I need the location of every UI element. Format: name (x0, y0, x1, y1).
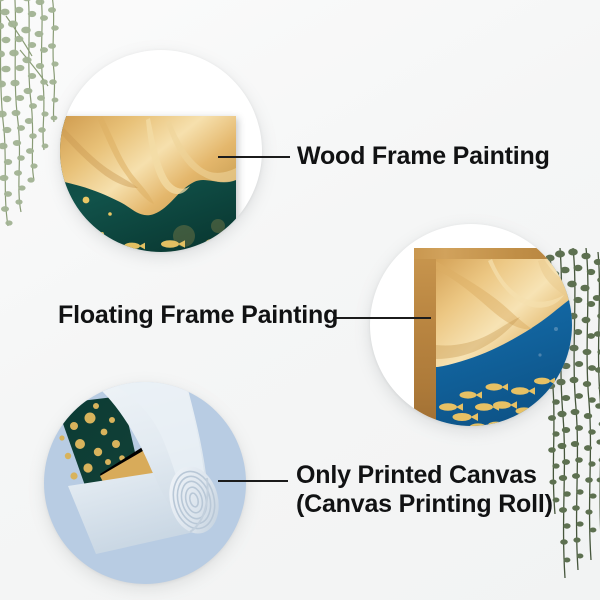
canvas-roll-illustration (44, 382, 246, 584)
label-floating-frame-painting: Floating Frame Painting (58, 301, 338, 330)
option-circle-printed-canvas[interactable] (44, 382, 246, 584)
option-circle-floating-frame[interactable] (370, 224, 572, 426)
leader-line-floating-frame (333, 317, 431, 319)
wood-frame-artwork (60, 116, 236, 252)
infographic-canvas: Wood Frame Painting Floating Frame Paint… (0, 0, 600, 600)
leader-line-wood-frame (218, 156, 290, 158)
frame-top-edge (414, 248, 572, 259)
leader-line-printed-canvas (218, 480, 288, 482)
label-printed-canvas: Only Printed Canvas (Canvas Printing Rol… (296, 461, 553, 518)
floating-canvas-print (436, 259, 572, 426)
option-circle-wood-frame[interactable] (60, 50, 262, 252)
frame-bottom-edge (414, 425, 436, 426)
label-wood-frame-painting: Wood Frame Painting (297, 142, 550, 171)
floating-frame-artwork (414, 248, 572, 426)
frame-side-panel (414, 248, 436, 426)
trailing-vine-left-icon (0, 0, 66, 290)
